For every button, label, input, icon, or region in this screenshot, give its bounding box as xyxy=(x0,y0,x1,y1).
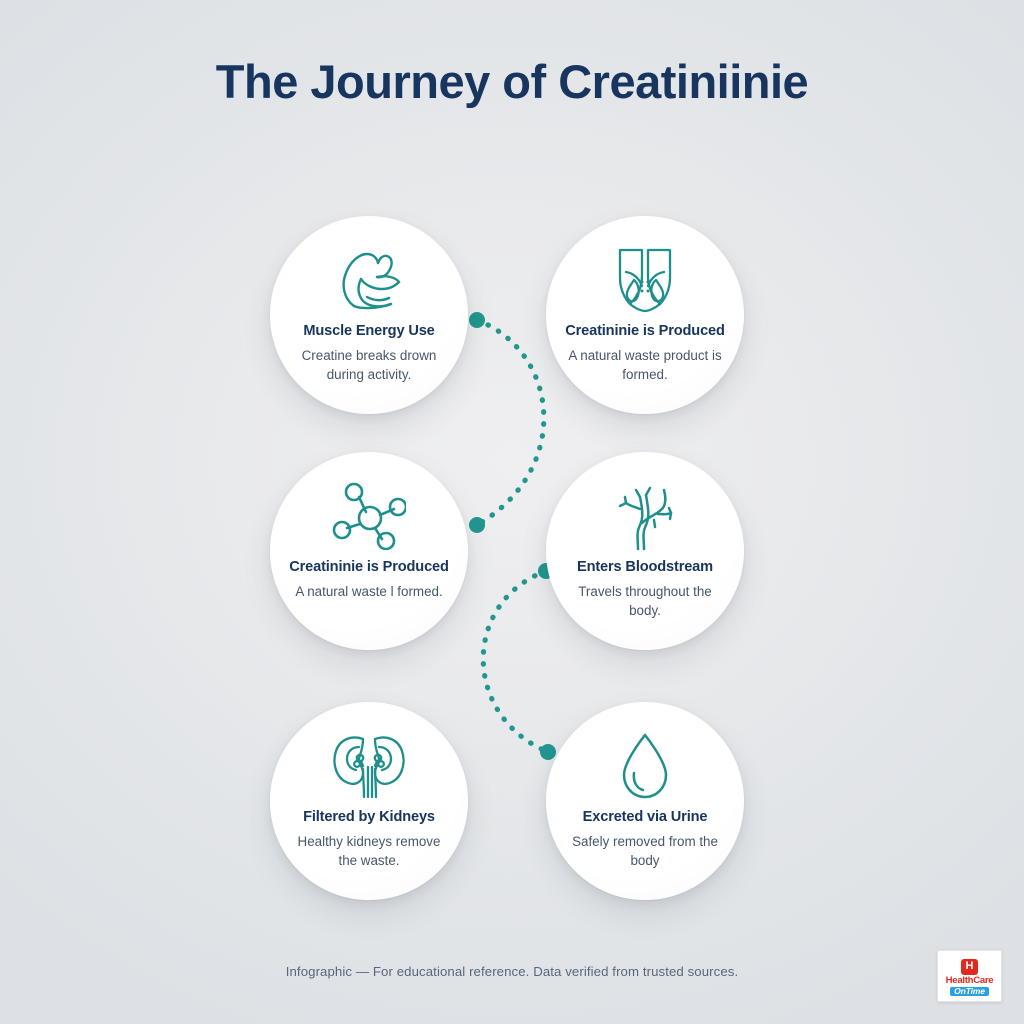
step-description: Safely removed from the body xyxy=(565,832,725,870)
step-description: Travels throughout the body. xyxy=(565,582,725,620)
connector-2-path xyxy=(483,571,548,752)
connector-1-end-node xyxy=(469,517,485,533)
step-description: A natural waste l formed. xyxy=(289,582,449,601)
step-card-creatinine-produced-torso[interactable]: Creatininie is Produced A natural waste … xyxy=(546,216,744,414)
step-card-enters-bloodstream[interactable]: Enters Bloodstream Travels throughout th… xyxy=(546,452,744,650)
logo-wordmark: HealthCare xyxy=(946,976,994,986)
logo-shield-h-icon: H xyxy=(961,959,978,975)
connector-1-start-node xyxy=(469,312,485,328)
step-card-filtered-by-kidneys[interactable]: Filtered by Kidneys Healthy kidneys remo… xyxy=(270,702,468,900)
page-title: The Journey of Creatiniinie xyxy=(0,54,1024,109)
connector-layer xyxy=(0,0,1024,1024)
step-card-muscle-energy-use[interactable]: Muscle Energy Use Creatine breaks drown … xyxy=(270,216,468,414)
footer-note: Infographic — For educational reference.… xyxy=(0,964,1024,979)
healthcare-ontime-logo: H HealthCare OnTime xyxy=(937,950,1002,1002)
logo-tagline: OnTime xyxy=(950,987,989,997)
step-title: Enters Bloodstream xyxy=(577,559,713,577)
step-card-creatinine-produced-molecule[interactable]: Creatininie is Produced A natural waste … xyxy=(270,452,468,650)
step-description: Creatine breaks drown during activity. xyxy=(289,346,449,384)
connector-2-end-node xyxy=(540,744,556,760)
step-card-excreted-via-urine[interactable]: Excreted via Urine Safely removed from t… xyxy=(546,702,744,900)
infographic-canvas: The Journey of Creatiniinie Muscle Energ… xyxy=(0,0,1024,1024)
step-title: Muscle Energy Use xyxy=(303,323,434,341)
kidneys-icon xyxy=(330,730,408,802)
step-description: A natural waste product is formed. xyxy=(565,346,725,384)
step-title: Creatininie is Produced xyxy=(289,559,449,577)
water-droplet-icon xyxy=(618,730,672,802)
step-title: Creatininie is Produced xyxy=(565,323,725,341)
flexed-bicep-icon xyxy=(333,244,405,316)
connector-1-path xyxy=(477,320,544,525)
step-title: Filtered by Kidneys xyxy=(303,809,435,827)
blood-vessel-icon xyxy=(614,480,676,552)
step-title: Excreted via Urine xyxy=(583,809,708,827)
molecule-icon xyxy=(332,480,406,552)
torso-abdomen-icon xyxy=(614,244,676,316)
step-description: Healthy kidneys remove the waste. xyxy=(289,832,449,870)
